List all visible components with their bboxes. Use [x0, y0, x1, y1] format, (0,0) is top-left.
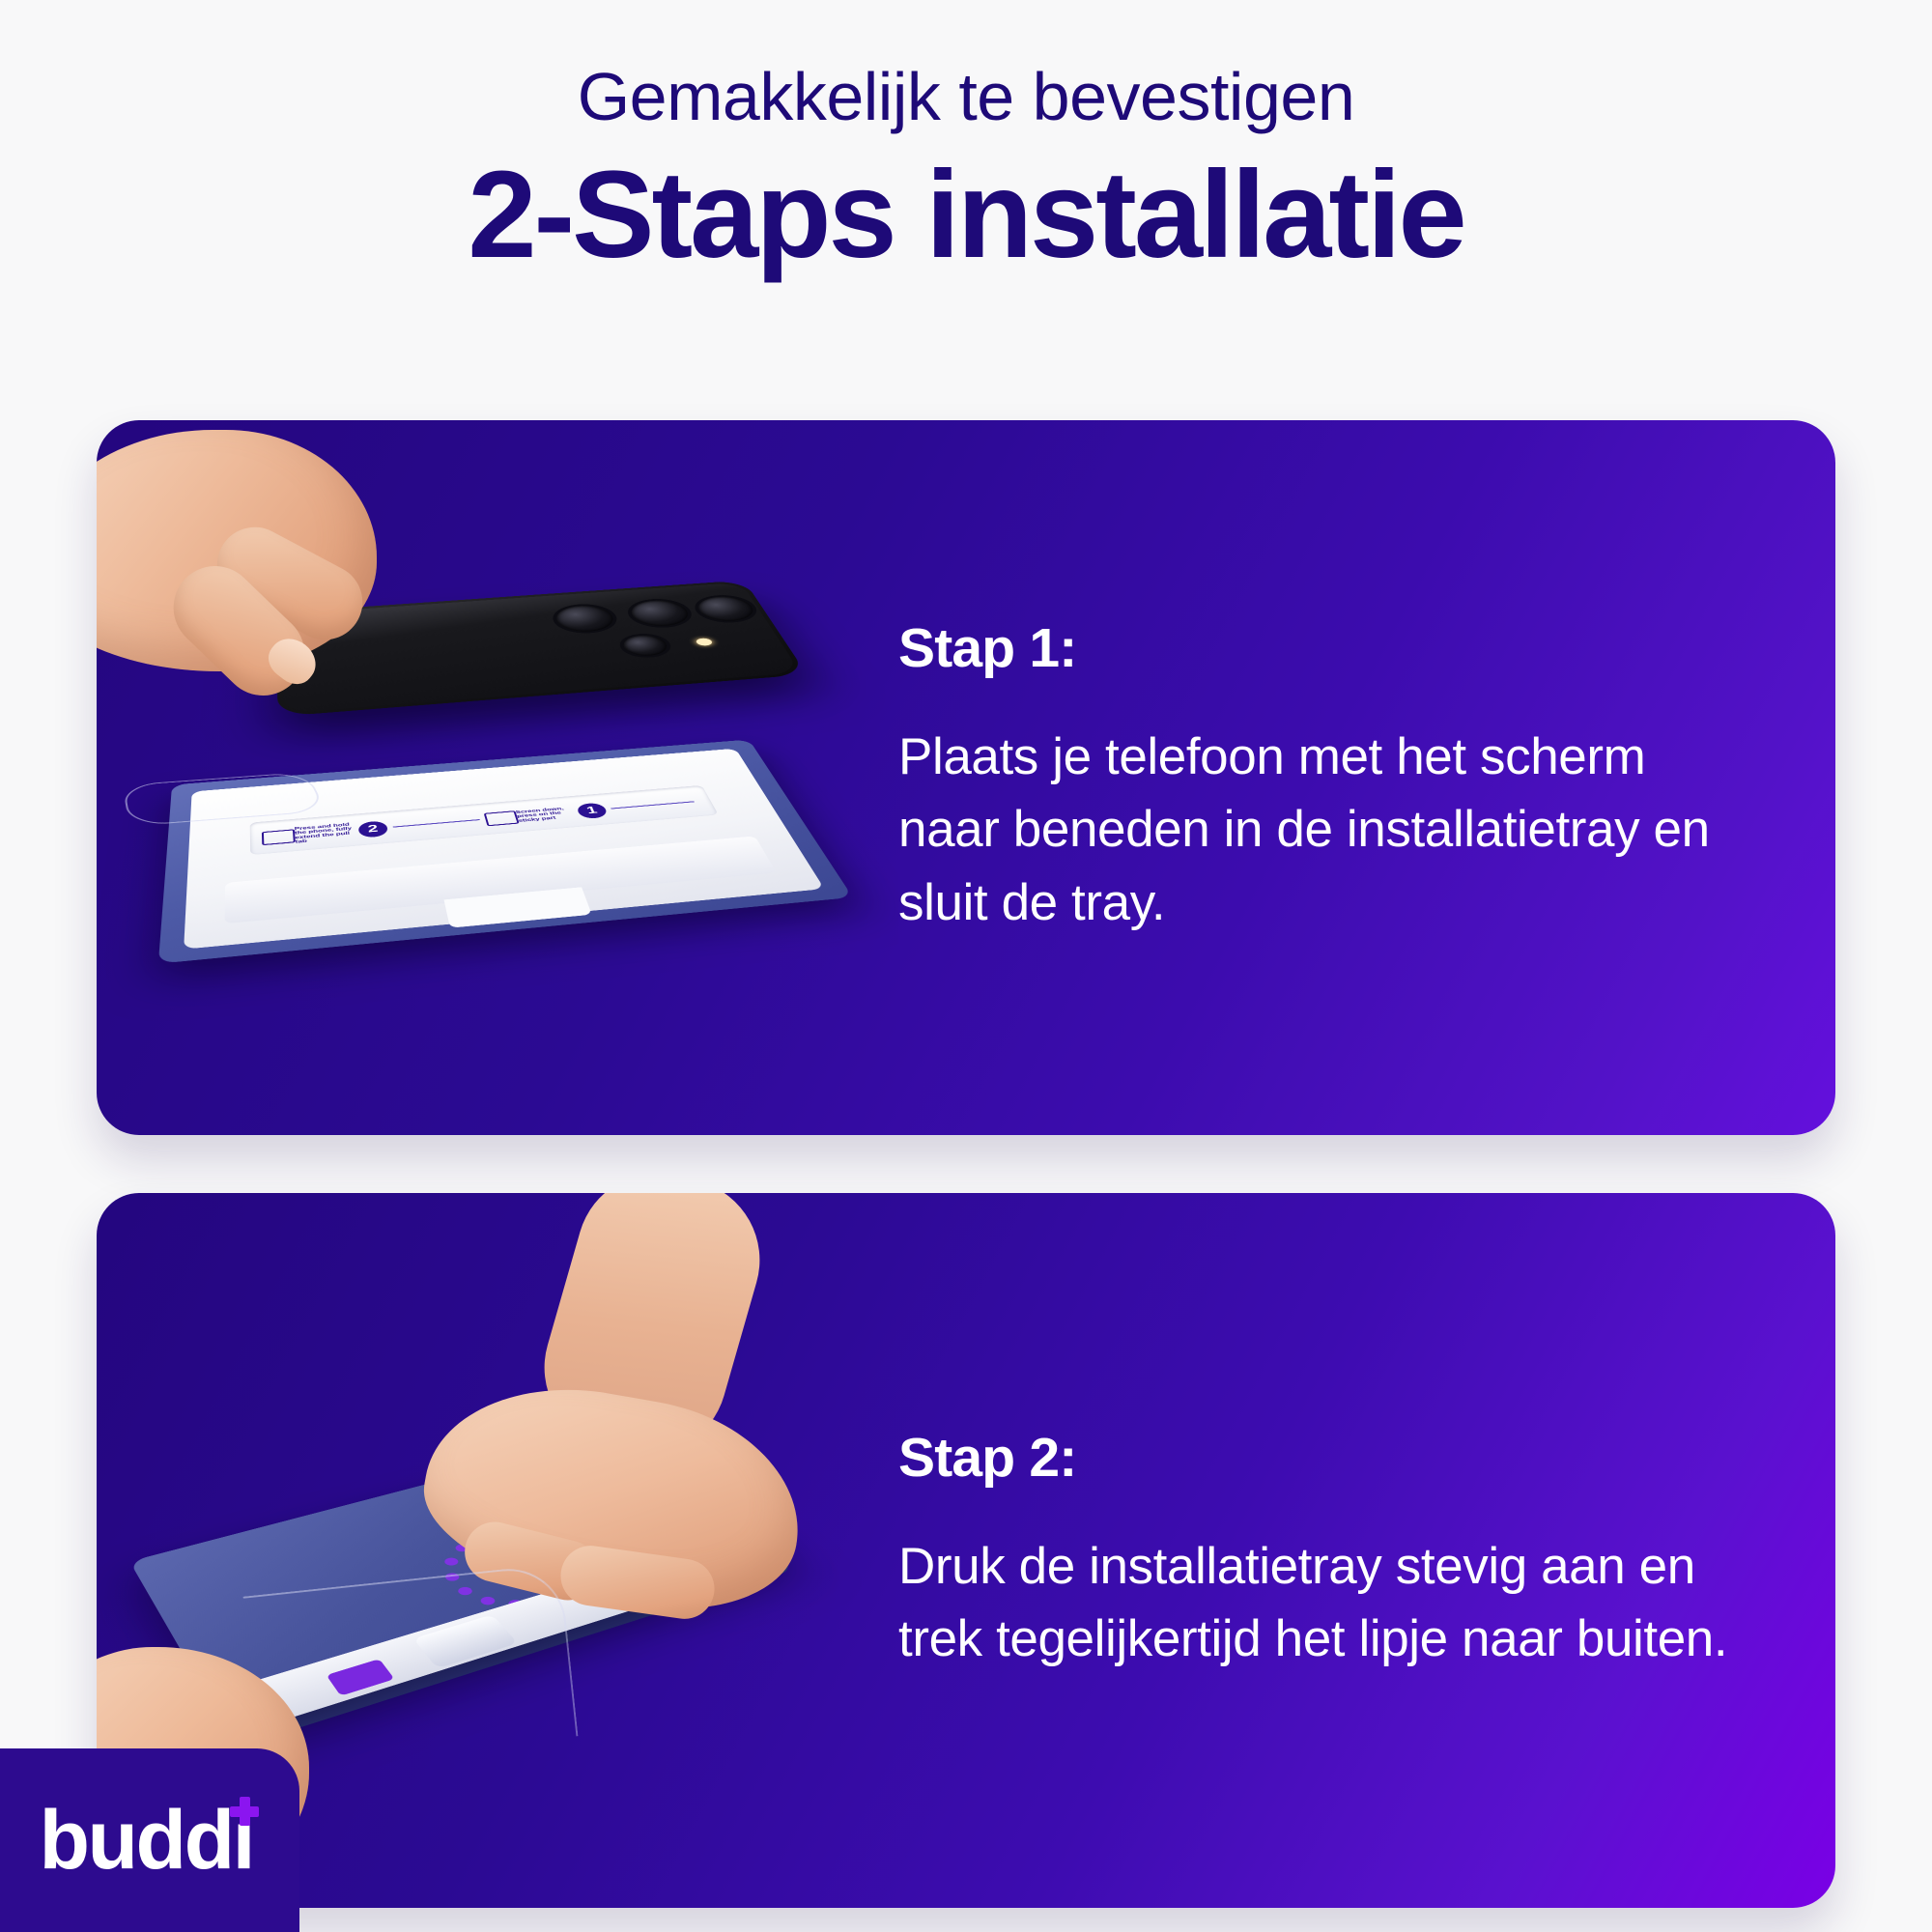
step-2-body: Druk de installatietray stevig aan en tr… — [898, 1530, 1748, 1676]
camera-flash-icon — [695, 638, 714, 646]
step-2-text-block: Stap 2: Druk de installatietray stevig a… — [898, 1193, 1787, 1908]
step-1-body: Plaats je telefoon met het scherm naar b… — [898, 721, 1748, 939]
infographic-page: Gemakkelijk te bevestigen 2-Staps instal… — [0, 0, 1932, 1932]
brand-wordmark: buddi — [39, 1799, 253, 1882]
tray-phone-glyph-icon — [484, 810, 520, 826]
brand-logo-badge[interactable]: buddi — [0, 1748, 299, 1932]
camera-lens-icon — [693, 595, 759, 622]
hand-pressing-tray — [319, 1212, 821, 1628]
tray-marking-divider-2 — [611, 802, 695, 810]
step-card-1: Press and hold the phone, fully extend t… — [97, 420, 1835, 1135]
tray-hand-glyph-icon — [262, 829, 296, 845]
page-title: 2-Staps installatie — [0, 148, 1932, 284]
step-2-label: Stap 2: — [898, 1426, 1787, 1490]
installation-tray-open: Press and hold the phone, fully extend t… — [158, 740, 853, 964]
camera-lens-icon — [620, 634, 671, 657]
step-1-illustration: Press and hold the phone, fully extend t… — [97, 420, 898, 1135]
step-1-label: Stap 1: — [898, 616, 1787, 680]
camera-lens-icon — [626, 599, 694, 628]
page-subtitle: Gemakkelijk te bevestigen — [0, 58, 1932, 136]
step-1-text-block: Stap 1: Plaats je telefoon met het scher… — [898, 420, 1787, 1135]
camera-lens-icon — [553, 604, 618, 633]
step-card-2: Stap 2: Druk de installatietray stevig a… — [97, 1193, 1835, 1908]
page-header: Gemakkelijk te bevestigen 2-Staps instal… — [0, 58, 1932, 283]
plus-icon — [230, 1797, 259, 1826]
tray-marking-divider — [393, 819, 480, 828]
hand-holding-phone — [97, 420, 444, 768]
